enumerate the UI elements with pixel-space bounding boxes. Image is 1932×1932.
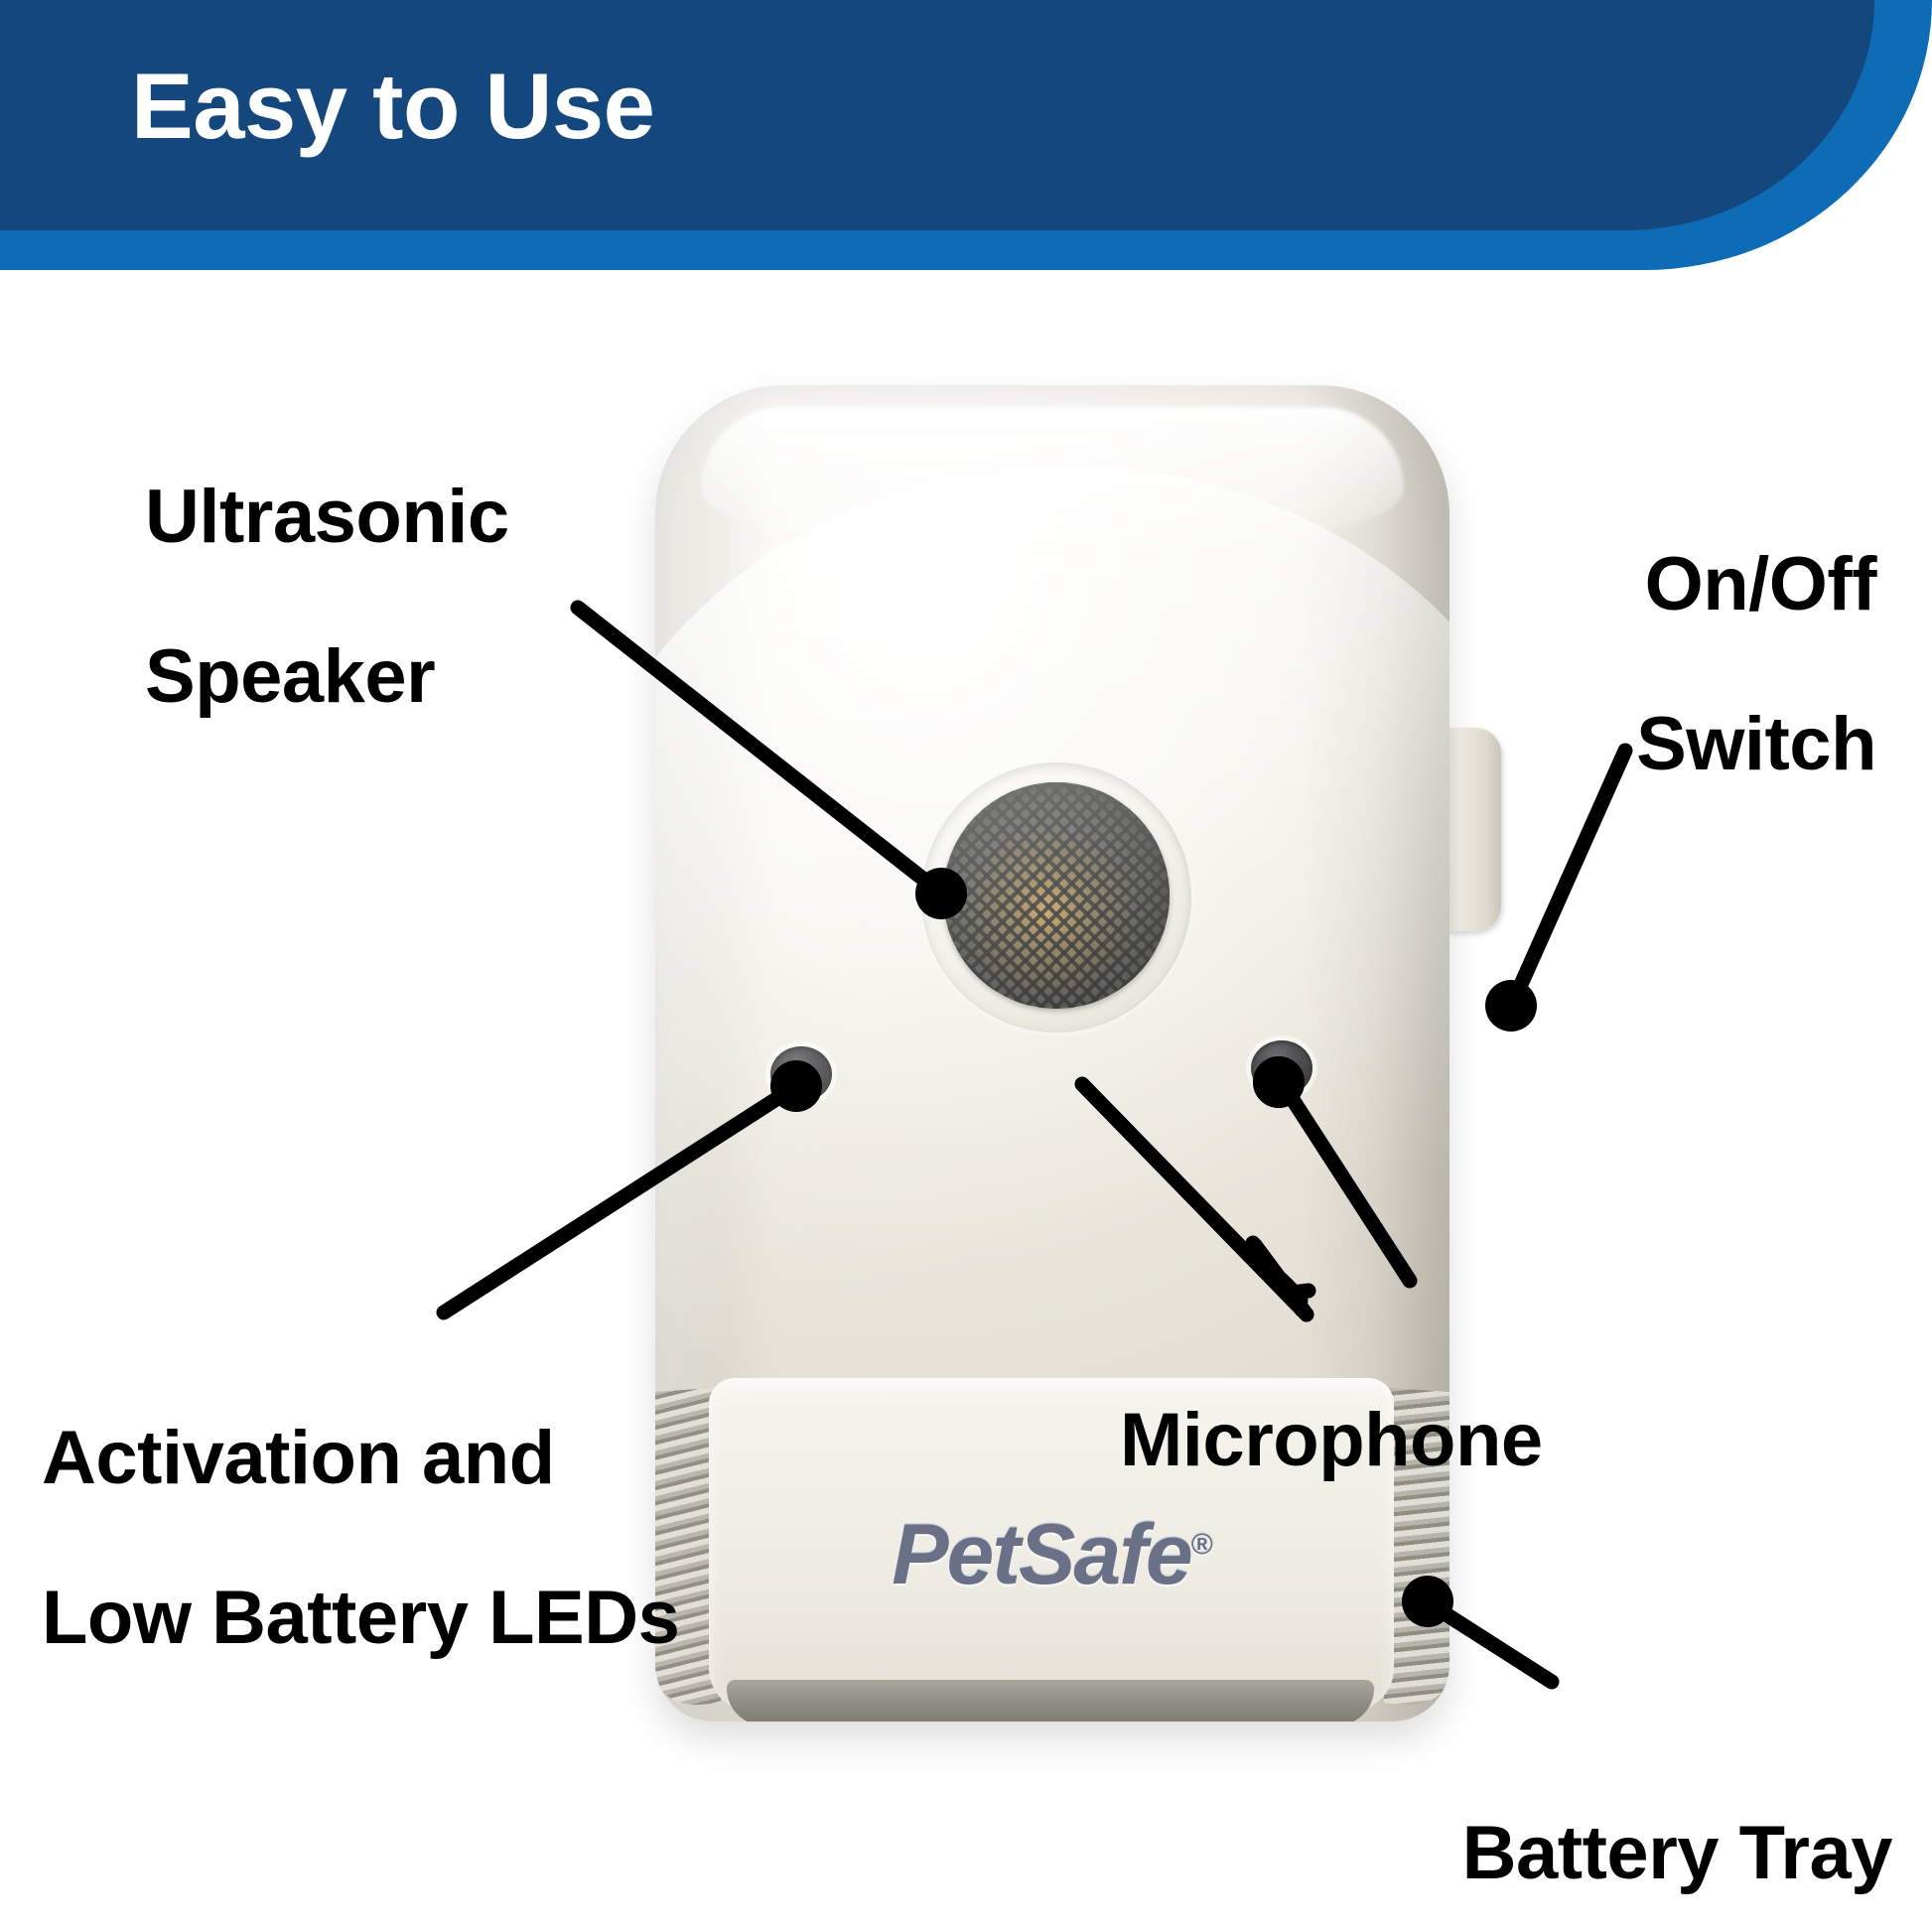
leader-line-on-off-switch bbox=[1515, 751, 1625, 998]
callout-ultrasonic-speaker-line2: Speaker bbox=[145, 637, 509, 718]
callout-battery-tray-line1: Battery Tray bbox=[1145, 1814, 1892, 1894]
microphone-port bbox=[1251, 1040, 1312, 1096]
callout-ultrasonic-speaker-line1: Ultrasonic bbox=[145, 478, 509, 558]
leader-line-battery-tray bbox=[1434, 1606, 1552, 1682]
ultrasonic-speaker-grille bbox=[943, 782, 1170, 1009]
callout-activation-leds-line1: Activation and bbox=[42, 1419, 679, 1499]
callout-activation-leds: Activation and Low Battery LEDs bbox=[42, 1338, 679, 1738]
activation-led-port bbox=[770, 1046, 832, 1102]
callout-on-off-switch-line1: On/Off bbox=[1636, 545, 1876, 625]
ultrasonic-speaker-bezel bbox=[921, 762, 1191, 1033]
device-top-bevel bbox=[701, 407, 1404, 556]
infographic-canvas: Easy to Use PetSafe® bbox=[0, 0, 1932, 1932]
callout-microphone-line1: Microphone bbox=[1120, 1401, 1543, 1481]
callout-microphone: Microphone bbox=[1120, 1320, 1543, 1561]
callout-on-off-switch-line2: Switch bbox=[1636, 705, 1876, 785]
header-banner: Easy to Use bbox=[0, 0, 1932, 278]
callout-activation-leds-line2: Low Battery LEDs bbox=[42, 1579, 679, 1659]
page-title: Easy to Use bbox=[131, 58, 654, 156]
callout-ultrasonic-speaker: Ultrasonic Speaker bbox=[145, 397, 509, 797]
callout-on-off-switch: On/Off Switch bbox=[1636, 465, 1876, 865]
callout-battery-tray: Battery Tray (2 batteries included) bbox=[1145, 1733, 1892, 1932]
device-base bbox=[727, 1680, 1374, 1722]
leader-dot-on-off-switch bbox=[1485, 980, 1537, 1032]
